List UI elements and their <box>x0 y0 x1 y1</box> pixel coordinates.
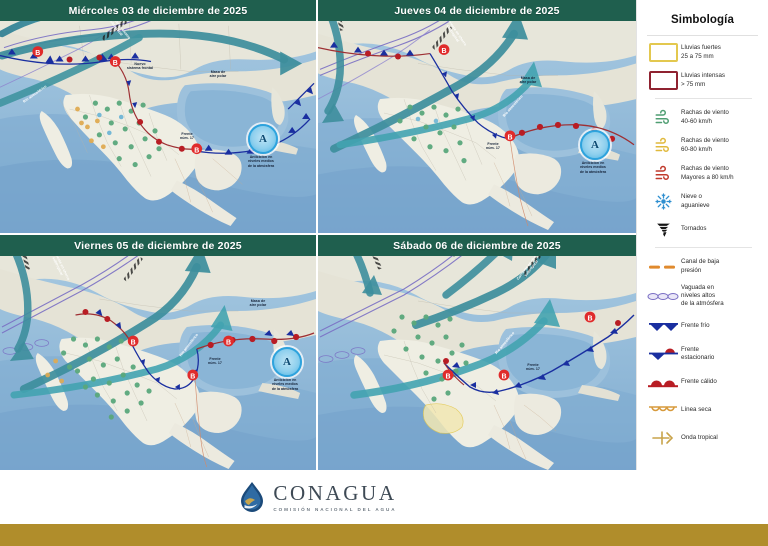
warm-front-icon <box>645 372 681 393</box>
legend-item-tornados[interactable]: Tornados <box>645 219 762 240</box>
legend-title: Simbología <box>637 0 768 35</box>
upper-trough-ovals-icon <box>645 286 681 307</box>
legend-label: Lluvias fuertes25 a 75 mm <box>681 44 721 60</box>
wind-gust-green-icon <box>645 107 681 128</box>
panel-2-label-frente-num: Frentenúm. 17 <box>474 142 512 151</box>
panel-1-label-anticiclon: Anticiclón enniveles mediosde la atmósfe… <box>231 155 291 168</box>
panel-3-anticyclone: A Anticiclón enniveles mediosde la atmós… <box>272 347 315 391</box>
panel-1-label-frente-num: Frentenúm. 17 <box>168 132 206 141</box>
legend-item-frente-estacionario[interactable]: Frenteestacionario <box>645 344 762 365</box>
svg-text:B: B <box>226 340 231 347</box>
panel-3-label-frente-num: Frentenúm. 17 <box>196 357 234 366</box>
legend-item-canal-baja-presion[interactable]: Canal de bajapresión <box>645 256 762 277</box>
legend-item-rachas-40-60[interactable]: Rachas de viento40-60 km/h <box>645 107 762 128</box>
legend-label: Nieve oaguanieve <box>681 193 710 209</box>
legend-label: Frenteestacionario <box>681 346 714 362</box>
legend-item-frente-frio[interactable]: Frente frío <box>645 316 762 337</box>
panel-2-map[interactable]: B B <box>318 0 636 233</box>
legend-label: Rachas de viento60-80 km/h <box>681 137 729 153</box>
legend-label: Onda tropical <box>681 434 718 442</box>
conagua-brand: CONAGUA COMISIÓN NACIONAL DEL AGUA <box>0 470 636 524</box>
cold-front-icon <box>645 316 681 337</box>
snow-flake-icon <box>645 191 681 212</box>
legend-footer-space <box>636 470 768 524</box>
forecast-panel-3[interactable]: Viernes 05 de diciembre de 2025 <box>0 235 318 470</box>
legend-label: Frente frío <box>681 322 710 330</box>
forecast-panel-2[interactable]: Jueves 04 de diciembre de 2025 <box>318 0 636 235</box>
anticyclone-letter: A <box>272 347 302 377</box>
legend-items: Lluvias fuertes25 a 75 mm Lluvias intens… <box>637 42 768 449</box>
trough-dashed-icon <box>645 256 681 277</box>
conagua-name: CONAGUA <box>273 483 396 504</box>
anticyclone-letter: A <box>248 124 278 154</box>
legend-label: Rachas de viento40-60 km/h <box>681 109 729 125</box>
legend-divider-3 <box>655 247 752 248</box>
conagua-subtitle: COMISIÓN NACIONAL DEL AGUA <box>273 507 396 512</box>
stationary-front-icon <box>645 344 681 365</box>
panel-4-label-frente-num: Frentenúm. 17 <box>514 363 552 372</box>
bottom-gold-bar <box>0 524 768 546</box>
forecast-infographic: Miércoles 03 de diciembre de 2025 <box>0 0 768 546</box>
rain-box-yellow-icon <box>645 42 681 63</box>
panel-2-label-anticiclon: Anticiclón enniveles mediosde la atmósfe… <box>563 161 623 174</box>
legend-item-linea-seca[interactable]: Línea seca <box>645 400 762 421</box>
panel-1-title: Miércoles 03 de diciembre de 2025 <box>0 0 316 21</box>
panel-1-label-nuevo-sistema: Nuevosistema frontal <box>118 62 162 71</box>
wind-gust-yellow-icon <box>645 135 681 156</box>
anticyclone-letter: A <box>580 130 610 160</box>
legend-panel: Simbología Lluvias fuertes25 a 75 mm Llu… <box>636 0 768 494</box>
legend-label: Rachas de vientoMayores a 80 km/h <box>681 165 734 181</box>
legend-item-nieve[interactable]: Nieve oaguanieve <box>645 191 762 212</box>
tornado-icon <box>645 219 681 240</box>
svg-text:B: B <box>194 147 199 154</box>
conagua-wordmark: CONAGUA COMISIÓN NACIONAL DEL AGUA <box>273 483 396 512</box>
legend-divider <box>647 35 758 36</box>
panel-3-label-masa-aire: Masa deaire polar <box>238 299 278 308</box>
svg-text:B: B <box>445 374 450 381</box>
legend-label: Vaguada enniveles altosde la atmósfera <box>681 284 724 309</box>
svg-text:B: B <box>507 134 512 141</box>
legend-item-lluvias-intensas[interactable]: Lluvias intensas> 75 mm <box>645 70 762 91</box>
forecast-panel-4[interactable]: Sábado 06 de diciembre de 2025 <box>318 235 636 470</box>
dry-line-icon <box>645 400 681 421</box>
panel-1-map[interactable]: B B B <box>0 0 316 233</box>
svg-text:B: B <box>587 316 592 323</box>
panel-1-label-masa-aire: Masa deaire polar <box>198 70 238 79</box>
panel-4-title: Sábado 06 de diciembre de 2025 <box>318 235 636 256</box>
panel-2-anticyclone: A Anticiclón enniveles mediosde la atmós… <box>580 130 623 174</box>
legend-label: Canal de bajapresión <box>681 258 719 274</box>
svg-text:B: B <box>501 374 506 381</box>
svg-text:B: B <box>131 340 136 347</box>
legend-label: Línea seca <box>681 406 711 414</box>
legend-item-lluvias-fuertes[interactable]: Lluvias fuertes25 a 75 mm <box>645 42 762 63</box>
panel-2-title: Jueves 04 de diciembre de 2025 <box>318 0 636 21</box>
rain-box-red-icon <box>645 70 681 91</box>
legend-item-rachas-mayores-80[interactable]: Rachas de vientoMayores a 80 km/h <box>645 163 762 184</box>
legend-item-onda-tropical[interactable]: Onda tropical <box>645 428 762 449</box>
wind-gust-red-icon <box>645 163 681 184</box>
svg-text:B: B <box>441 48 446 55</box>
legend-item-rachas-60-80[interactable]: Rachas de viento60-80 km/h <box>645 135 762 156</box>
panel-3-label-anticiclon: Anticiclón enniveles mediosde la atmósfe… <box>255 378 315 391</box>
legend-item-frente-calido[interactable]: Frente cálido <box>645 372 762 393</box>
panel-2-label-masa-aire: Masa deaire polar <box>508 76 548 85</box>
legend-divider-2 <box>655 98 752 99</box>
forecast-panel-1[interactable]: Miércoles 03 de diciembre de 2025 <box>0 0 318 235</box>
svg-text:B: B <box>35 50 40 57</box>
legend-item-vaguada-niveles-altos[interactable]: Vaguada enniveles altosde la atmósfera <box>645 284 762 309</box>
conagua-logo-icon <box>239 481 266 513</box>
legend-label: Tornados <box>681 225 706 233</box>
legend-label: Lluvias intensas> 75 mm <box>681 72 725 88</box>
panel-1-anticyclone: A Anticiclón enniveles mediosde la atmós… <box>248 124 291 168</box>
forecast-panel-grid: Miércoles 03 de diciembre de 2025 <box>0 0 636 470</box>
panel-3-title: Viernes 05 de diciembre de 2025 <box>0 235 316 256</box>
panel-3-map[interactable]: B B B <box>0 235 316 470</box>
legend-label: Frente cálido <box>681 378 717 386</box>
tropical-wave-icon <box>645 428 681 449</box>
panel-4-map[interactable]: B B B <box>318 235 636 470</box>
svg-text:B: B <box>190 374 195 381</box>
